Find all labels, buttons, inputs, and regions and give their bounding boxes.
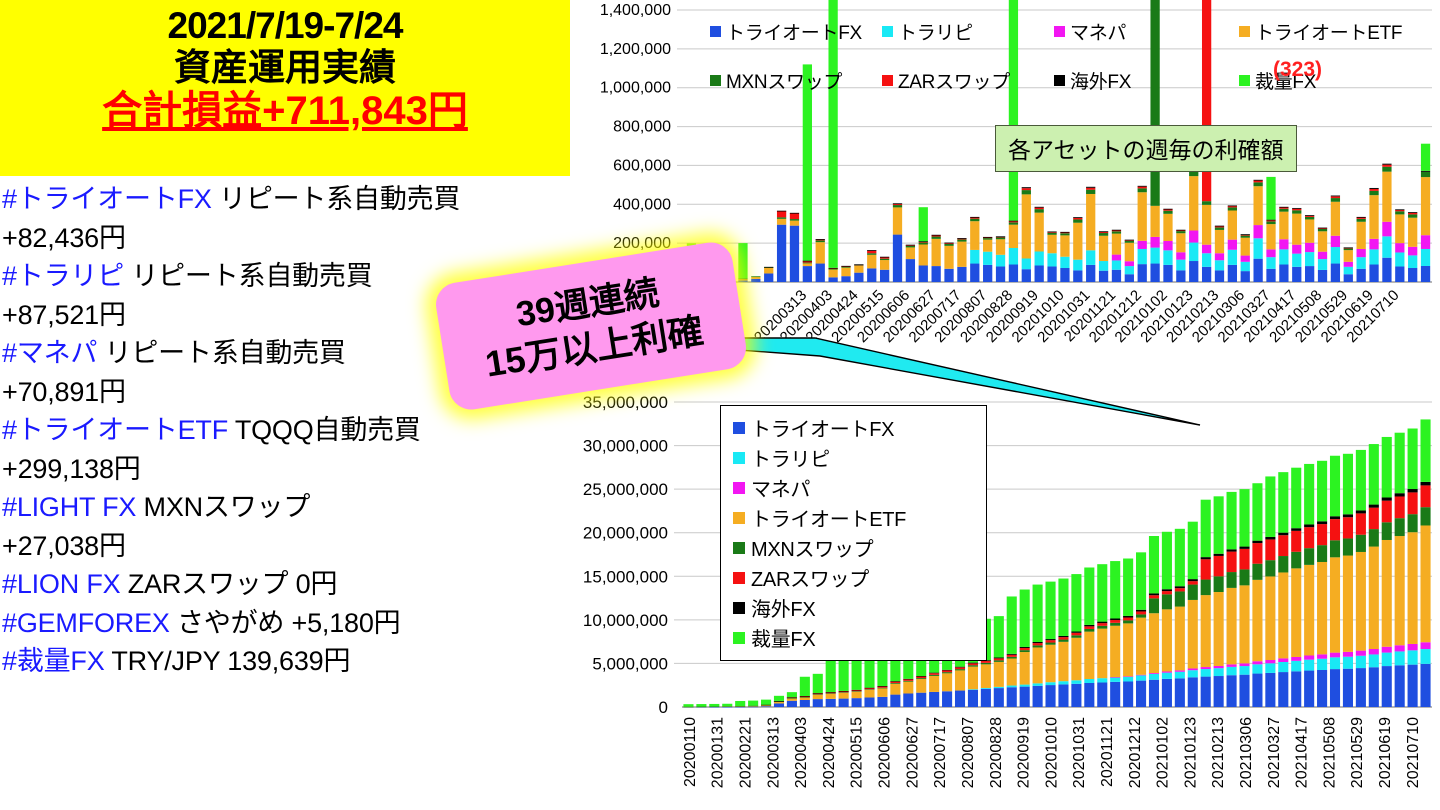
legend-label: MXNスワップ (751, 533, 873, 562)
weekly-bar-segment (841, 266, 850, 267)
legend-label: 海外FX (751, 593, 815, 622)
weekly-bar-segment (1305, 215, 1314, 216)
weekly-bar-segment (1331, 236, 1340, 247)
cumulative-bar-segment (1395, 536, 1405, 645)
legend-item: 裁量FX (733, 623, 978, 652)
svg-text:15,000,000: 15,000,000 (583, 567, 668, 586)
weekly-bar-segment (1344, 247, 1353, 248)
legend-swatch-icon (733, 512, 745, 524)
weekly-bar-segment (1138, 188, 1147, 192)
weekly-bar-segment (751, 276, 760, 277)
svg-text:20200313: 20200313 (765, 717, 782, 788)
cumulative-bar-segment (1382, 437, 1392, 498)
cumulative-bar-segment (1007, 654, 1017, 655)
svg-text:20201212: 20201212 (1127, 717, 1144, 788)
legend-swatch-icon (733, 572, 745, 584)
weekly-bar-segment (1163, 211, 1172, 214)
weekly-bar-segment (906, 259, 915, 282)
legend-item: 海外FX (733, 593, 978, 622)
weekly-bar-segment (1189, 176, 1198, 230)
weekly-bar-segment (957, 267, 966, 282)
cumulative-bar-segment (1110, 626, 1120, 677)
weekly-bar-segment (1331, 198, 1340, 202)
weekly-bar-segment (1022, 269, 1031, 282)
svg-text:600,000: 600,000 (613, 157, 671, 174)
cumulative-bar-segment (1188, 670, 1198, 677)
weekly-bar-segment (996, 239, 1005, 255)
cumulative-bar-segment (1304, 565, 1314, 656)
cumulative-bar-segment (1020, 648, 1030, 650)
weekly-bar-segment (790, 226, 799, 282)
cumulative-bar-segment (1239, 666, 1249, 675)
cumulative-bar-segment (994, 688, 1004, 707)
cumulative-bar-segment (1136, 675, 1146, 676)
weekly-bar-segment (1150, 237, 1159, 248)
svg-text:20210102: 20210102 (1155, 717, 1172, 788)
cumulative-bar-segment (1252, 483, 1262, 540)
cumulative-bar-segment (1214, 668, 1224, 676)
weekly-bar-segment (1279, 265, 1288, 282)
asset-amount: +82,436円 (2, 219, 570, 258)
cumulative-bar-segment (1317, 562, 1327, 654)
weekly-bar-segment (919, 243, 928, 245)
cumulative-bar-segment (1045, 643, 1055, 645)
weekly-bar-segment (1292, 209, 1301, 211)
cumulative-bar-segment (890, 684, 900, 695)
cumulative-bar-segment (994, 660, 1004, 662)
cumulative-bar-segment (942, 673, 952, 691)
cumulative-bar-segment (1330, 557, 1340, 652)
cumulative-bar-segment (1304, 671, 1314, 707)
asset-amount: +27,038円 (2, 527, 570, 566)
cumulative-bar-segment (800, 700, 810, 707)
cumulative-bar-segment (1408, 489, 1418, 492)
weekly-bar-segment (1369, 195, 1378, 239)
cumulative-bar-segment (1110, 623, 1120, 626)
weekly-bar-segment (996, 255, 1005, 267)
cumulative-bar-segment (1033, 585, 1043, 642)
cumulative-bar-segment (1330, 519, 1340, 540)
cumulative-bar-segment (1033, 647, 1043, 683)
cumulative-bar-segment (1239, 675, 1249, 707)
cumulative-bar-segment (1123, 559, 1133, 616)
weekly-bar-segment (1176, 231, 1185, 233)
cumulative-bar-segment (1175, 586, 1185, 588)
svg-text:5,000,000: 5,000,000 (592, 654, 668, 673)
cumulative-bar-segment (916, 676, 926, 677)
cumulative-bar-segment (1252, 661, 1262, 664)
weekly-bar-segment (764, 267, 773, 268)
cumulative-bar-segment (929, 673, 939, 675)
svg-text:400,000: 400,000 (613, 196, 671, 213)
cumulative-bar-segment (1162, 673, 1172, 679)
cumulative-bar-segment (1136, 681, 1146, 707)
cumulative-bar-segment (1252, 664, 1262, 673)
weekly-bar-segment (1241, 234, 1250, 235)
weekly-bar-segment (1060, 232, 1069, 233)
weekly-bar-segment (932, 239, 941, 266)
cumulative-bar-segment (1007, 655, 1017, 657)
svg-text:20200515: 20200515 (849, 717, 866, 788)
weekly-bar-segment (1292, 267, 1301, 282)
weekly-bar-segment (1305, 243, 1314, 252)
cumulative-bar-segment (1175, 678, 1185, 707)
weekly-bar-segment (1318, 259, 1327, 270)
cumulative-bar-segment (1420, 419, 1430, 481)
asset-line: #LIGHT FX MXNスワップ (2, 488, 570, 527)
weekly-bar-segment (1292, 208, 1301, 209)
weekly-bar-segment (1112, 234, 1121, 255)
cumulative-bar-segment (1188, 579, 1198, 581)
weekly-bar-segment (1176, 260, 1185, 271)
weekly-bar-segment (1086, 265, 1095, 282)
asset-tag: #マネパ (2, 338, 97, 368)
cumulative-bar-segment (929, 676, 939, 692)
cumulative-bar-segment (1343, 538, 1353, 555)
cumulative-bar-segment (1084, 625, 1094, 626)
weekly-bar-segment (803, 64, 812, 260)
cumulative-bar-segment (722, 704, 732, 707)
weekly-bar-segment (970, 221, 979, 250)
cumulative-bar-segment (1110, 677, 1120, 678)
asset-description: TRY/JPY 139,639円 (105, 646, 351, 676)
cumulative-bar-segment (1045, 582, 1055, 639)
cumulative-bar-segment (916, 678, 926, 679)
weekly-bar-segment (1395, 209, 1404, 210)
cumulative-bar-segment (968, 663, 978, 664)
cumulative-bar-segment (1110, 618, 1120, 620)
weekly-bar-segment (1138, 186, 1147, 187)
weekly-bar-segment (1241, 256, 1250, 262)
weekly-bar-segment (1408, 213, 1417, 215)
asset-description: リピート系自動売買 (97, 338, 346, 368)
weekly-bar-segment (867, 268, 876, 282)
cumulative-bar-segment (1162, 532, 1172, 589)
weekly-bar-segment (1241, 271, 1250, 282)
cumulative-bar-segment (1330, 540, 1340, 557)
weekly-bar-segment (1395, 243, 1404, 252)
cumulative-bar-segment (1395, 518, 1405, 536)
svg-text:1,400,000: 1,400,000 (600, 2, 671, 19)
cumulative-bar-segment (1097, 682, 1107, 707)
cumulative-bar-segment (1408, 665, 1418, 707)
weekly-bar-segment (1009, 248, 1018, 265)
legend-label: マネパ (751, 473, 810, 502)
weekly-bar-segment (906, 247, 915, 259)
cumulative-bar-segment (1239, 489, 1249, 546)
weekly-bar-segment (1009, 225, 1018, 248)
weekly-bar-segment (1344, 274, 1353, 282)
cumulative-bar-segment (1356, 656, 1366, 668)
cumulative-bar-segment (1175, 588, 1185, 591)
weekly-bar-segment (970, 219, 979, 222)
weekly-bar-segment (1395, 252, 1404, 266)
weekly-bar-segment (893, 235, 902, 282)
cumulative-bar-segment (1071, 684, 1081, 707)
cumulative-bar-segment (1265, 560, 1275, 576)
cumulative-bar-segment (1033, 643, 1043, 645)
cumulative-bar-segment (955, 669, 965, 670)
weekly-bar-segment (1408, 255, 1417, 268)
weekly-bar-segment (1253, 259, 1262, 282)
cumulative-bar-segment (1175, 672, 1185, 679)
cumulative-bar-segment (955, 691, 965, 707)
svg-text:30,000,000: 30,000,000 (583, 437, 668, 456)
cumulative-bar-segment (981, 688, 991, 689)
weekly-bar-segment (790, 221, 799, 226)
cumulative-bar-segment (1214, 592, 1224, 666)
cumulative-bar-segment (1420, 642, 1430, 649)
svg-text:20210619: 20210619 (1377, 717, 1394, 788)
cumulative-bar-segment (1239, 547, 1249, 549)
weekly-bar-segment (1241, 262, 1250, 271)
weekly-bar-segment (1189, 231, 1198, 243)
cumulative-bar-segment (1382, 497, 1392, 500)
weekly-bar-segment (803, 263, 812, 266)
cumulative-bar-segment (1188, 585, 1198, 600)
cumulative-bar-segment (903, 679, 913, 681)
cumulative-bar-segment (683, 707, 693, 708)
cumulative-bar-segment (1071, 635, 1081, 637)
weekly-bar-segment (1305, 219, 1314, 242)
weekly-bar-segment (738, 243, 747, 278)
weekly-bar-segment (1408, 212, 1417, 213)
cumulative-bar-segment (1084, 632, 1094, 679)
cumulative-bar-segment (800, 696, 810, 697)
cumulative-bar-segment (1278, 535, 1288, 556)
weekly-bar-segment (919, 241, 928, 242)
cumulative-bar-segment (1084, 567, 1094, 624)
cumulative-bar-segment (813, 699, 823, 707)
weekly-bar-segment (1318, 231, 1327, 251)
weekly-bar-segment (1035, 213, 1044, 252)
cumulative-bar-segment (955, 667, 965, 669)
cumulative-bar-segment (683, 704, 693, 707)
cumulative-bar-segment (1408, 644, 1418, 650)
cumulative-bar-segment (1395, 645, 1405, 651)
cumulative-bar-segment (1097, 629, 1107, 679)
weekly-bar-segment (1060, 257, 1069, 268)
cumulative-bar-segment (968, 689, 978, 690)
weekly-bar-segment (1125, 266, 1134, 274)
cumulative-bar-segment (826, 694, 836, 699)
cumulative-bar-segment (1291, 528, 1301, 531)
weekly-bar-segment (1163, 250, 1172, 265)
weekly-bar-segment (1369, 265, 1378, 282)
legend-item: トライオートFX (733, 413, 978, 442)
weekly-bar-segment (1022, 194, 1031, 258)
weekly-bar-segment (1163, 265, 1172, 282)
cumulative-bar-segment (1330, 669, 1340, 707)
cumulative-bar-segment (1369, 529, 1379, 546)
cumulative-bar-segment (774, 701, 784, 702)
cumulative-bar-segment (1291, 671, 1301, 707)
weekly-bar-segment (816, 239, 825, 240)
weekly-bar-segment (1099, 233, 1108, 236)
cumulative-bar-segment (1123, 676, 1133, 677)
cumulative-bar-segment (1343, 657, 1353, 669)
weekly-bar-segment (1357, 217, 1366, 218)
cumulative-bar-segment (981, 689, 991, 707)
cumulative-bar-segment (1045, 682, 1055, 685)
weekly-bar-segment (1318, 270, 1327, 282)
weekly-bar-segment (1073, 218, 1082, 220)
cumulative-bar-segment (1369, 505, 1379, 508)
asset-line: #LION FX ZARスワップ 0円 (2, 565, 570, 604)
weekly-bar-segment (1112, 230, 1121, 231)
cumulative-bar-segment (1188, 677, 1198, 707)
cumulative-bar-segment (787, 698, 797, 699)
cumulative-bar-segment (696, 704, 706, 707)
cumulative-bar-segment (1058, 681, 1068, 684)
cumulative-bar-segment (1356, 510, 1366, 513)
weekly-bar-segment (1009, 222, 1018, 224)
cumulative-bar-segment (864, 689, 874, 690)
cumulative-bar-segment (1033, 642, 1043, 643)
cumulative-bar-segment (1045, 639, 1055, 640)
weekly-bar-segment (1125, 243, 1134, 261)
cumulative-bar-segment (1356, 651, 1366, 656)
weekly-bar-segment (1382, 236, 1391, 257)
cumulative-bar-segment (877, 688, 887, 696)
cumulative-bar-segment (1330, 516, 1340, 519)
weekly-bar-segment (1047, 235, 1056, 253)
cumulative-bar-segment (1071, 680, 1081, 684)
cumulative-bar-segment (1058, 642, 1068, 681)
weekly-bar-segment (1331, 196, 1340, 197)
weekly-bar-segment (777, 219, 786, 225)
cumulative-bar-segment (1214, 666, 1224, 668)
cumulative-bar-segment (1149, 680, 1159, 707)
cumulative-bar-segment (1020, 647, 1030, 648)
legend-item: トライオートETF (733, 503, 978, 532)
weekly-bar-segment (1125, 241, 1134, 243)
legend-item: MXNスワップ (733, 533, 978, 562)
cumulative-bar-segment (1369, 444, 1379, 505)
cumulative-bar-segment (1304, 464, 1314, 525)
cumulative-bar-segment (709, 706, 719, 707)
asset-tag: #GEMFOREX (2, 608, 170, 638)
cumulative-bar-segment (916, 679, 926, 693)
cumulative-bar-segment (1382, 647, 1392, 653)
weekly-bar-segment (1253, 182, 1262, 186)
cumulative-bar-segment (1020, 687, 1030, 707)
cumulative-bar-segment (1201, 669, 1211, 677)
weekly-bar-segment (1163, 209, 1172, 210)
weekly-bar-segment (1421, 235, 1430, 249)
cumulative-bar-segment (1084, 626, 1094, 629)
cumulative-bar-segment (1395, 493, 1405, 496)
weekly-bar-segment (1035, 207, 1044, 208)
cumulative-bar-segment (1265, 537, 1275, 539)
cumulative-bar-segment (852, 698, 862, 707)
weekly-bar-segment (1266, 269, 1275, 282)
weekly-bar-segment (1047, 233, 1056, 235)
cumulative-bar-segment (1071, 574, 1081, 631)
cumulative-bar-segment (1420, 507, 1430, 525)
weekly-bar-segment (777, 225, 786, 282)
cumulative-bar-segment (1369, 649, 1379, 654)
cumulative-bar-segment (1395, 496, 1405, 518)
weekly-bar-segment (1421, 177, 1430, 235)
weekly-bar-segment (1357, 269, 1366, 282)
cumulative-bar-segment (1420, 485, 1430, 507)
asset-tag: #LIGHT FX (2, 492, 136, 522)
cumulative-bar-segment (1239, 549, 1249, 570)
weekly-bar-segment (816, 264, 825, 282)
cumulative-bar-segment (1214, 676, 1224, 707)
cumulative-bar-segment (1317, 461, 1327, 522)
weekly-bar-segment (1279, 249, 1288, 264)
header-title: 資産運用実績 (174, 48, 396, 88)
cumulative-bar-segment (1227, 572, 1237, 588)
cumulative-bar-segment (1330, 653, 1340, 658)
legend-label: トライオートETF (751, 503, 906, 532)
cumulative-bar-segment (994, 658, 1004, 659)
cumulative-bar-segment (1058, 579, 1068, 636)
cumulative-bar-segment (1033, 686, 1043, 707)
cumulative-bar-segment (774, 696, 784, 701)
header-date-range: 2021/7/19-7/24 (168, 7, 403, 45)
legend-label: ZARスワップ (751, 563, 869, 592)
weekly-bar-segment (1382, 165, 1391, 167)
cumulative-bar-segment (1162, 589, 1172, 591)
svg-text:20200919: 20200919 (1016, 717, 1033, 788)
weekly-bar-segment (1112, 260, 1121, 269)
weekly-bar-segment (932, 237, 941, 239)
weekly-bar-segment (751, 279, 760, 282)
weekly-bar-segment (1189, 171, 1198, 176)
weekly-bar-segment (1344, 262, 1353, 267)
weekly-bar-segment (1408, 218, 1417, 247)
cumulative-bar-segment (1162, 609, 1172, 671)
cumulative-bar-segment (1214, 496, 1224, 553)
cumulative-bar-segment (929, 675, 939, 676)
cumulative-bar-segment (839, 699, 849, 707)
weekly-bar-segment (932, 266, 941, 282)
weekly-bar-segment (1138, 264, 1147, 282)
cumulative-bar-segment (1278, 662, 1288, 672)
cumulative-bar-segment (1071, 633, 1081, 636)
weekly-bar-segment (1369, 189, 1378, 191)
cumulative-bar-segment (761, 706, 771, 707)
weekly-bar-segment (1047, 253, 1056, 266)
weekly-bar-segment (1073, 219, 1082, 222)
cumulative-bar-segment (968, 665, 978, 666)
weekly-bar-segment (1253, 238, 1262, 258)
cumulative-bar-segment (852, 692, 862, 698)
cumulative-bar-segment (1123, 618, 1133, 621)
cumulative-bar-segment (1382, 540, 1392, 647)
cumulative-bar-segment (1110, 677, 1120, 682)
weekly-bar-segment (996, 238, 1005, 240)
svg-text:20200627: 20200627 (904, 717, 921, 788)
weekly-bar-segment (803, 266, 812, 282)
svg-text:20210529: 20210529 (1349, 717, 1366, 788)
cumulative-bar-segment (1162, 594, 1172, 609)
weekly-bar-segment (1344, 249, 1353, 251)
offscale-marker-label: (323) (1273, 58, 1322, 82)
asset-tag: #裁量FX (2, 646, 105, 676)
legend-swatch-icon (733, 452, 745, 464)
cumulative-bar-segment (1291, 531, 1301, 552)
weekly-bar-segment (957, 238, 966, 239)
cumulative-bar-segment (1175, 670, 1185, 671)
weekly-bar-segment (957, 239, 966, 241)
cumulative-bar-segment (1123, 620, 1133, 623)
cumulative-bar-segment (1149, 595, 1159, 598)
weekly-bar-segment (1189, 243, 1198, 261)
